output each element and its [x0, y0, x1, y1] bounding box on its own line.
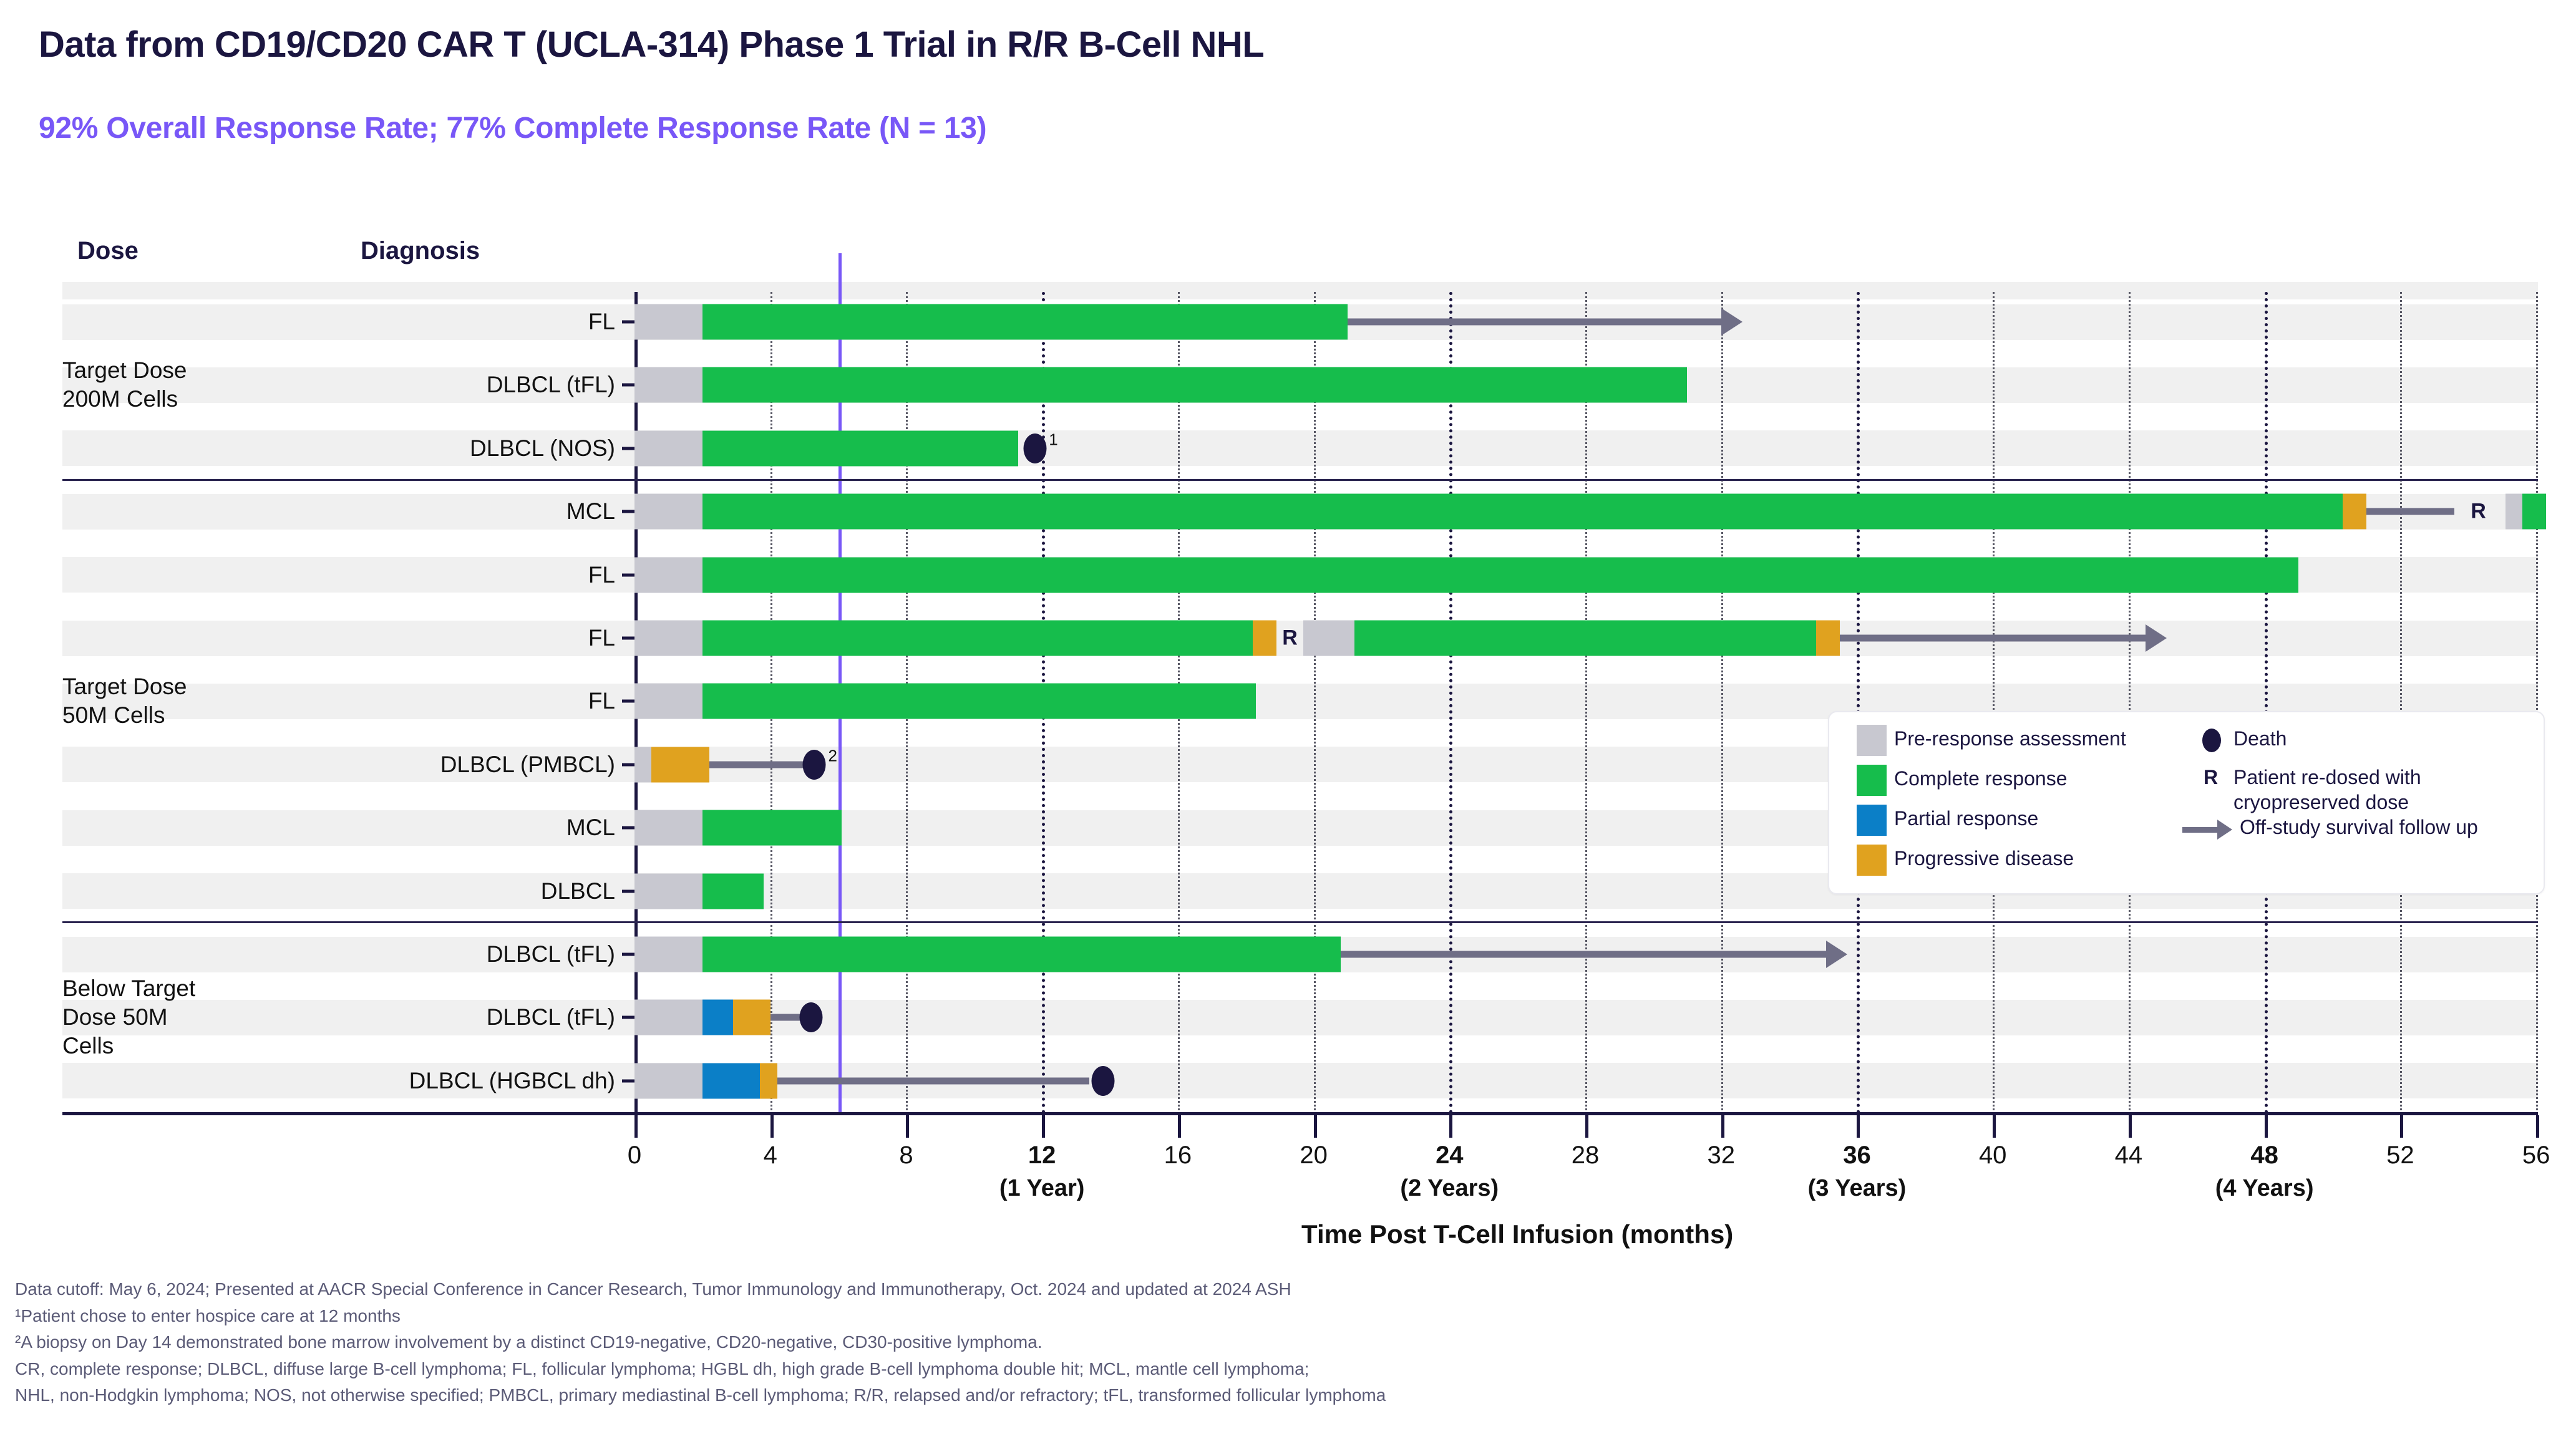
footnote-ref-1: 1 [1049, 430, 1057, 449]
followup-line [709, 761, 808, 768]
x-tick-label-24: 24 [1436, 1141, 1464, 1170]
row-label-dlbcl-hgbcl-dh-: DLBCL (HGBCL dh) [409, 1068, 615, 1094]
x-tick-4 [770, 1115, 774, 1138]
footnote-line-1: ¹Patient chose to enter hospice care at … [15, 1303, 2560, 1330]
x-tick-sublabel-24: (2 Years) [1400, 1175, 1499, 1202]
bar-segment-pre-response [634, 304, 702, 340]
x-tick-label-32: 32 [1708, 1141, 1736, 1170]
bar-segment-progressive-disease [2343, 494, 2366, 530]
y-tick [622, 384, 636, 387]
x-tick-label-16: 16 [1164, 1141, 1192, 1170]
x-tick-label-40: 40 [1979, 1141, 2007, 1170]
dose-group-line: 200M Cells [62, 385, 187, 414]
y-tick [622, 700, 636, 703]
followup-line [1348, 319, 1721, 326]
bar-segment-complete-response [702, 304, 1348, 340]
bar-segment-pre-response [634, 747, 651, 782]
bar-segment-complete-response [702, 937, 1341, 972]
y-tick [622, 447, 636, 450]
legend-redose-icon: R [2204, 766, 2218, 789]
dose-group-line: Dose 50M [62, 1003, 195, 1032]
x-tick-sublabel-48: (4 Years) [2215, 1175, 2314, 1202]
y-tick [622, 321, 636, 324]
death-marker [800, 1002, 823, 1032]
x-tick-16 [1178, 1115, 1181, 1138]
x-tick-40 [1993, 1115, 1996, 1138]
gridline-20 [1314, 292, 1316, 1114]
dose-group-label-2: Below TargetDose 50MCells [62, 974, 195, 1061]
x-tick-label-56: 56 [2522, 1141, 2550, 1170]
bar-segment-pre-response [634, 873, 702, 909]
x-tick-44 [2129, 1115, 2132, 1138]
row-label-dlbcl-tfl-: DLBCL (tFL) [487, 1004, 615, 1030]
dose-group-line: Target Dose [62, 356, 187, 385]
legend-label-3: Progressive disease [1894, 847, 2074, 870]
footnote-line-0: Data cutoff: May 6, 2024; Presented at A… [15, 1276, 2560, 1303]
row-label-fl: FL [588, 625, 615, 651]
x-tick-label-44: 44 [2115, 1141, 2143, 1170]
bar-segment-complete-response [702, 873, 764, 909]
bar-segment-pre-response [634, 557, 702, 593]
followup-arrow-icon [2146, 624, 2167, 652]
column-header-diagnosis: Diagnosis [361, 237, 480, 265]
row-label-fl: FL [588, 688, 615, 714]
death-marker [1024, 434, 1047, 463]
x-tick-52 [2400, 1115, 2403, 1138]
gridline-24 [1449, 292, 1452, 1114]
y-tick [622, 953, 636, 956]
bar-segment-pre-response [634, 621, 702, 656]
y-tick [622, 573, 636, 576]
x-tick-label-4: 4 [764, 1141, 777, 1170]
footnote-ref-2: 2 [828, 746, 837, 765]
bar-segment-pre-response [1303, 621, 1354, 656]
bar-segment-progressive-disease [760, 1063, 777, 1098]
bar-segment-partial-response [702, 1000, 733, 1035]
x-tick-36 [1857, 1115, 1860, 1138]
bar-segment-complete-response [702, 367, 1687, 403]
x-tick-48 [2265, 1115, 2268, 1138]
row-label-fl: FL [588, 309, 615, 335]
x-tick-label-12: 12 [1028, 1141, 1056, 1170]
legend-label-0: Pre-response assessment [1894, 727, 2126, 750]
y-tick [622, 826, 636, 830]
x-axis-title: Time Post T-Cell Infusion (months) [1301, 1219, 1733, 1249]
bar-segment-complete-response [702, 494, 2343, 530]
followup-line [777, 1077, 1090, 1084]
bar-segment-complete-response [702, 430, 1018, 466]
x-tick-label-52: 52 [2386, 1141, 2414, 1170]
y-tick [622, 510, 636, 513]
x-tick-0 [634, 1115, 638, 1138]
followup-line [1840, 635, 2146, 642]
dose-group-label-0: Target Dose200M Cells [62, 356, 187, 414]
y-tick [622, 763, 636, 766]
legend-swatch-pre-response-assessment [1857, 725, 1887, 756]
dose-group-line: Target Dose [62, 672, 187, 701]
x-tick-sublabel-36: (3 Years) [1808, 1175, 1907, 1202]
header-band [62, 282, 2538, 299]
bar-segment-pre-response [634, 1063, 702, 1098]
page-subtitle: 92% Overall Response Rate; 77% Complete … [39, 111, 986, 145]
dose-group-label-1: Target Dose50M Cells [62, 672, 187, 730]
legend-death-label: Death [2233, 727, 2287, 750]
row-label-fl: FL [588, 562, 615, 588]
bar-segment-pre-response [634, 494, 702, 530]
bar-segment-progressive-disease [733, 1000, 770, 1035]
legend: Pre-response assessmentComplete response… [1828, 711, 2545, 894]
bar-segment-pre-response [634, 810, 702, 846]
gridline-28 [1585, 292, 1587, 1114]
x-tick-label-48: 48 [2250, 1141, 2278, 1170]
bar-segment-pre-response [634, 684, 702, 719]
bar-segment-complete-response [1354, 621, 1816, 656]
y-tick [622, 1079, 636, 1082]
bar-segment-complete-response [702, 810, 842, 846]
legend-redose-label-1: Patient re-dosed with [2233, 766, 2421, 789]
bar-segment-partial-response [702, 1063, 761, 1098]
row-label-mcl: MCL [566, 815, 615, 841]
legend-followup-arrowhead-icon [2217, 820, 2232, 840]
bar-segment-progressive-disease [1253, 621, 1276, 656]
redose-marker: R [2471, 500, 2486, 524]
bar-segment-pre-response [634, 1000, 702, 1035]
x-tick-8 [906, 1115, 909, 1138]
gridline-32 [1721, 292, 1723, 1114]
dose-group-line: Cells [62, 1032, 195, 1060]
y-tick [622, 889, 636, 893]
bar-segment-complete-response [2522, 494, 2546, 530]
group-separator [62, 479, 2538, 481]
x-tick-label-36: 36 [1843, 1141, 1871, 1170]
row-label-dlbcl-tfl-: DLBCL (tFL) [487, 941, 615, 967]
page-title: Data from CD19/CD20 CAR T (UCLA-314) Pha… [39, 24, 1264, 65]
redose-marker: R [1282, 626, 1298, 651]
row-label-dlbcl: DLBCL [541, 878, 615, 904]
row-label-dlbcl-tfl-: DLBCL (tFL) [487, 372, 615, 398]
x-tick-32 [1721, 1115, 1724, 1138]
legend-followup-icon [2182, 827, 2219, 833]
bar-segment-pre-response [2506, 494, 2522, 530]
gridline-44 [2129, 292, 2131, 1114]
row-label-mcl: MCL [566, 498, 615, 525]
x-tick-28 [1585, 1115, 1588, 1138]
x-tick-label-20: 20 [1300, 1141, 1328, 1170]
bar-segment-pre-response [634, 367, 702, 403]
bar-segment-complete-response [702, 684, 1256, 719]
group-separator [62, 921, 2538, 923]
bar-segment-pre-response [634, 430, 702, 466]
death-marker [1092, 1066, 1115, 1096]
footnote-line-4: NHL, non-Hodgkin lymphoma; NOS, not othe… [15, 1382, 2560, 1409]
gridline-36 [1857, 292, 1860, 1114]
footnotes: Data cutoff: May 6, 2024; Presented at A… [15, 1276, 2560, 1409]
gridline-48 [2265, 292, 2268, 1114]
x-tick-label-0: 0 [628, 1141, 641, 1170]
followup-arrow-icon [1721, 308, 1742, 336]
footnote-line-3: CR, complete response; DLBCL, diffuse la… [15, 1356, 2560, 1383]
followup-arrow-icon [1826, 941, 1847, 968]
row-label-dlbcl-pmbcl-: DLBCL (PMBCL) [440, 752, 615, 778]
row-band [62, 1000, 2538, 1035]
x-tick-24 [1449, 1115, 1452, 1138]
legend-followup-label: Off-study survival follow up [2240, 816, 2478, 839]
x-tick-sublabel-12: (1 Year) [999, 1175, 1085, 1202]
y-tick [622, 1016, 636, 1019]
legend-swatch-progressive-disease [1857, 845, 1887, 876]
legend-label-2: Partial response [1894, 807, 2038, 830]
x-tick-56 [2536, 1115, 2539, 1138]
gridline-52 [2400, 292, 2402, 1114]
death-marker [803, 750, 826, 780]
gridline-56 [2536, 292, 2538, 1114]
row-label-dlbcl-nos-: DLBCL (NOS) [470, 435, 615, 462]
gridline-40 [1993, 292, 1995, 1114]
bar-segment-pre-response [634, 937, 702, 972]
bar-segment-complete-response [702, 557, 2298, 593]
dose-group-line: 50M Cells [62, 701, 187, 730]
y-tick [622, 637, 636, 640]
followup-line [2366, 508, 2455, 515]
x-tick-12 [1042, 1115, 1045, 1138]
legend-swatch-complete-response [1857, 765, 1887, 796]
x-tick-label-28: 28 [1572, 1141, 1600, 1170]
bar-segment-progressive-disease [1816, 621, 1840, 656]
footnote-line-2: ²A biopsy on Day 14 demonstrated bone ma… [15, 1329, 2560, 1356]
bar-segment-complete-response [702, 621, 1253, 656]
followup-line [1341, 951, 1826, 958]
legend-redose-label-2: cryopreserved dose [2233, 791, 2409, 814]
legend-death-icon [2202, 729, 2221, 752]
row-band [62, 430, 2538, 466]
legend-swatch-partial-response [1857, 805, 1887, 836]
legend-label-1: Complete response [1894, 767, 2067, 790]
x-tick-20 [1314, 1115, 1317, 1138]
bar-segment-progressive-disease [651, 747, 709, 782]
x-tick-label-8: 8 [899, 1141, 913, 1170]
x-axis-line [62, 1112, 2538, 1115]
column-header-dose: Dose [77, 237, 139, 265]
dose-group-line: Below Target [62, 974, 195, 1003]
